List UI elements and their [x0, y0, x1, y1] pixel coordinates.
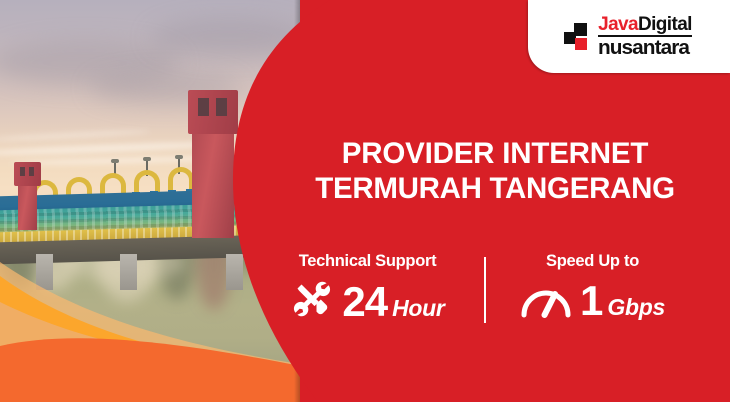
- feature-title: Speed Up to: [480, 252, 705, 271]
- logo-line-one: JavaDigital: [598, 15, 692, 37]
- pylon-cap: [188, 90, 238, 134]
- pylon-window: [216, 98, 227, 116]
- logo: JavaDigital nusantara: [564, 15, 692, 58]
- feature-technical-support: Technical Support: [255, 252, 480, 326]
- logo-wordmark: JavaDigital nusantara: [598, 15, 692, 58]
- speedometer-icon: [520, 277, 572, 324]
- pylon-window: [20, 167, 25, 176]
- logo-java-text: Java: [598, 14, 638, 35]
- tools-icon: [290, 277, 334, 326]
- logo-card: JavaDigital nusantara: [528, 0, 730, 73]
- promo-banner: JavaDigital nusantara PROVIDER INTERNET …: [0, 0, 730, 402]
- feature-value: 24: [342, 281, 387, 323]
- logo-nusantara-text: nusantara: [598, 38, 695, 58]
- page-title: PROVIDER INTERNET TERMURAH TANGERANG: [290, 137, 700, 207]
- bridge-pylon: [18, 182, 37, 230]
- feature-list: Technical Support: [255, 252, 705, 326]
- orange-wave-dark: [0, 324, 300, 402]
- three-squares-icon: [564, 23, 591, 50]
- pylon-window: [198, 98, 209, 116]
- feature-value: 1: [580, 280, 602, 322]
- bridge-pylon: [192, 130, 234, 238]
- cloud-streak: [0, 129, 150, 142]
- logo-digital-text: Digital: [638, 14, 692, 35]
- headline-line-one: PROVIDER INTERNET: [290, 137, 700, 172]
- pylon-cap: [14, 162, 41, 186]
- feature-divider: [484, 257, 486, 323]
- pylon-window: [29, 167, 34, 176]
- feature-title: Technical Support: [255, 252, 480, 271]
- headline-line-two: TERMURAH TANGERANG: [290, 172, 700, 207]
- cloud: [150, 18, 300, 58]
- feature-speed: Speed Up to 1 Gbps: [480, 252, 705, 324]
- tangerang-bridge-sunset-photo: [0, 0, 300, 402]
- feature-unit: Gbps: [607, 296, 665, 319]
- feature-unit: Hour: [392, 297, 444, 320]
- bridge-structure: [0, 158, 300, 244]
